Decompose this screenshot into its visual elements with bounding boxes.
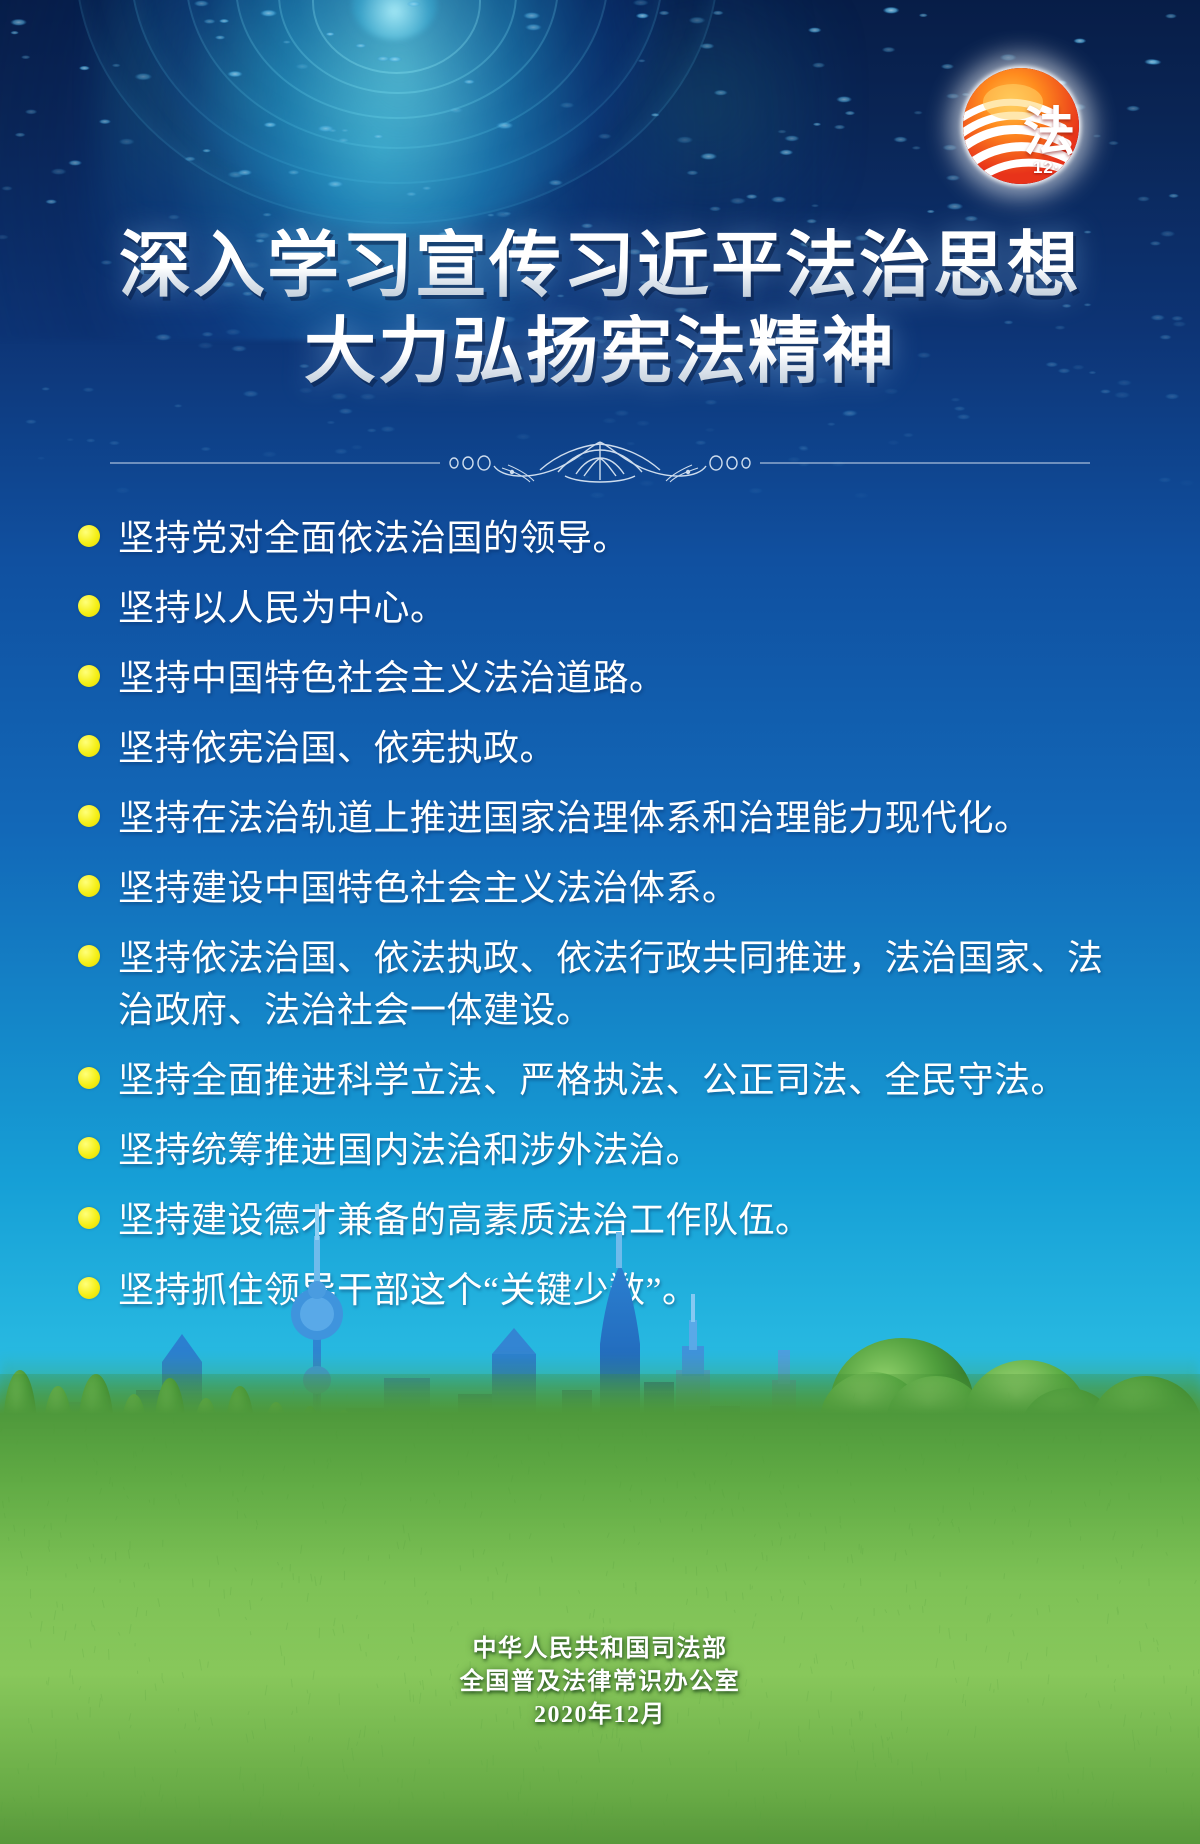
list-item: 坚持中国特色社会主义法治道路。 [78,652,1138,704]
list-item: 坚持依法治国、依法执政、依法行政共同推进，法治国家、法治政府、法治社会一体建设。 [78,932,1138,1036]
bullet-dot-icon [78,665,100,687]
grass-texture [0,1374,1200,1844]
bullet-dot-icon [78,735,100,757]
logo-date-label: 12·4 [1033,158,1071,178]
list-item: 坚持建设中国特色社会主义法治体系。 [78,862,1138,914]
ornamental-divider [110,432,1090,490]
footer-line-3: 2020年12月 [0,1699,1200,1732]
list-item-text: 坚持依宪治国、依宪执政。 [118,722,1138,774]
bullet-dot-icon [78,875,100,897]
list-item-text: 坚持中国特色社会主义法治道路。 [118,652,1138,704]
title-line-2: 大力弘扬宪法精神 [0,314,1200,390]
list-item-text: 坚持建设中国特色社会主义法治体系。 [118,862,1138,914]
list-item: 坚持以人民为中心。 [78,582,1138,634]
footer-line-1: 中华人民共和国司法部 [0,1633,1200,1666]
poster-title: 深入学习宣传习近平法治思想 大力弘扬宪法精神 [0,228,1200,391]
bullet-dot-icon [78,525,100,547]
list-item-text: 坚持以人民为中心。 [118,582,1138,634]
poster-root: 法 12·4 深入学习宣传习近平法治思想 大力弘扬宪法精神 [0,0,1200,1844]
list-item: 坚持党对全面依法治国的领导。 [78,512,1138,564]
list-item-text: 坚持全面推进科学立法、严格执法、公正司法、全民守法。 [118,1054,1138,1106]
list-item-text: 坚持党对全面依法治国的领导。 [118,512,1138,564]
legal-publicity-logo[interactable]: 法 12·4 [963,68,1079,184]
logo-character: 法 [1023,108,1075,160]
title-line-1: 深入学习宣传习近平法治思想 [0,228,1200,304]
footer-line-2: 全国普及法律常识办公室 [0,1666,1200,1699]
bullet-dot-icon [78,595,100,617]
list-item: 坚持依宪治国、依宪执政。 [78,722,1138,774]
bullet-dot-icon [78,1137,100,1159]
bullet-dot-icon [78,805,100,827]
footer-credits: 中华人民共和国司法部 全国普及法律常识办公室 2020年12月 [0,1633,1200,1732]
list-item-text: 坚持依法治国、依法执政、依法行政共同推进，法治国家、法治政府、法治社会一体建设。 [118,932,1138,1036]
list-item-text: 坚持统筹推进国内法治和涉外法治。 [118,1124,1138,1176]
list-item: 坚持统筹推进国内法治和涉外法治。 [78,1124,1138,1176]
bullet-dot-icon [78,1067,100,1089]
bullet-dot-icon [78,945,100,967]
list-item: 坚持在法治轨道上推进国家治理体系和治理能力现代化。 [78,792,1138,844]
list-item: 坚持全面推进科学立法、严格执法、公正司法、全民守法。 [78,1054,1138,1106]
list-item-text: 坚持在法治轨道上推进国家治理体系和治理能力现代化。 [118,792,1138,844]
